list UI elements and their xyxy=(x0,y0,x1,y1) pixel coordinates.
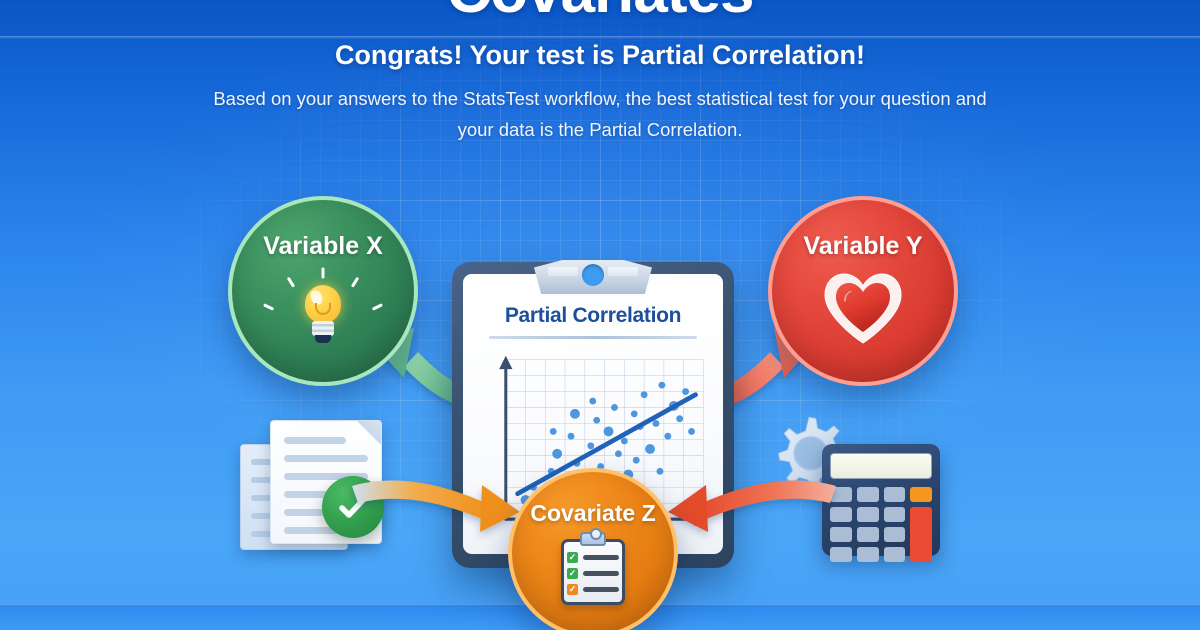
node-covariate-z-label: Covariate Z xyxy=(530,500,655,527)
checklist-clipboard-icon: ✓ ✓ ✓ xyxy=(556,531,630,607)
node-covariate-z[interactable]: Covariate Z ✓ ✓ ✓ xyxy=(508,468,678,630)
arrow-documents-to-covariate-z xyxy=(352,481,520,532)
arrow-tools-to-covariate-z xyxy=(668,481,836,532)
